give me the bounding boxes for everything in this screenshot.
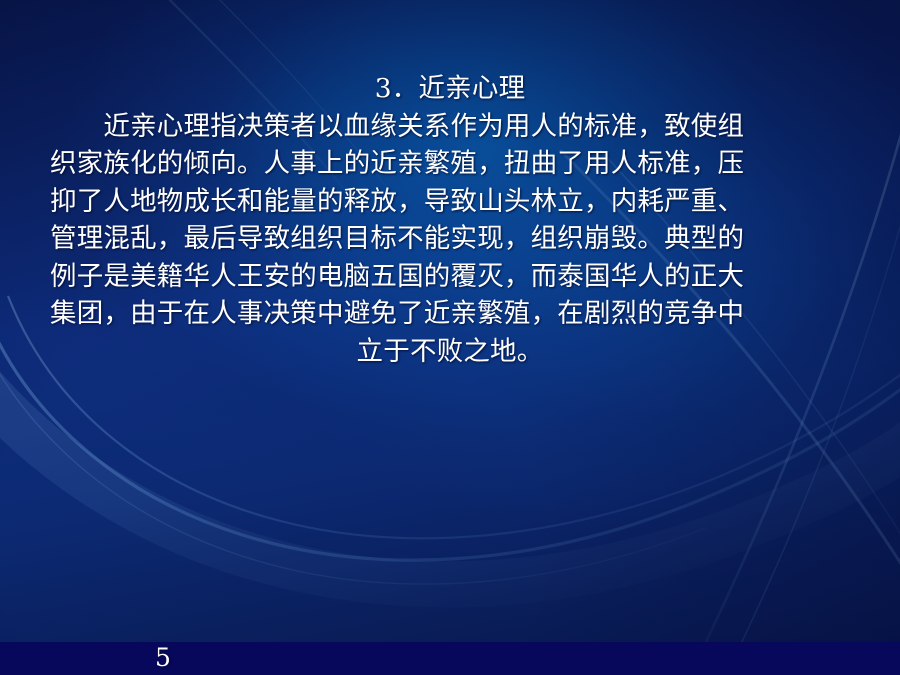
body-line-1: 近亲心理指决策者以血缘关系作为用人的标准，致使组 [50,108,850,146]
body-line-2: 织家族化的倾向。人事上的近亲繁殖，扭曲了用人标准，压 [50,145,850,183]
body-line-4: 管理混乱，最后导致组织目标不能实现，组织崩毁。典型的 [50,220,850,258]
slide-title: 3．近亲心理 [50,70,850,108]
body-line-7: 立于不败之地。 [50,333,850,371]
body-line-6: 集团，由于在人事决策中避免了近亲繁殖，在剧烈的竞争中 [50,295,850,333]
footer-band [0,642,900,675]
body-line-3: 抑了人地物成长和能量的释放，导致山头林立，内耗严重、 [50,183,850,221]
page-number: 5 [143,643,183,673]
body-line-5: 例子是美籍华人王安的电脑五国的覆灭，而泰国华人的正大 [50,258,850,296]
slide-text-body: 3．近亲心理 近亲心理指决策者以血缘关系作为用人的标准，致使组 织家族化的倾向。… [50,70,850,370]
presentation-slide: 3．近亲心理 近亲心理指决策者以血缘关系作为用人的标准，致使组 织家族化的倾向。… [0,0,900,675]
